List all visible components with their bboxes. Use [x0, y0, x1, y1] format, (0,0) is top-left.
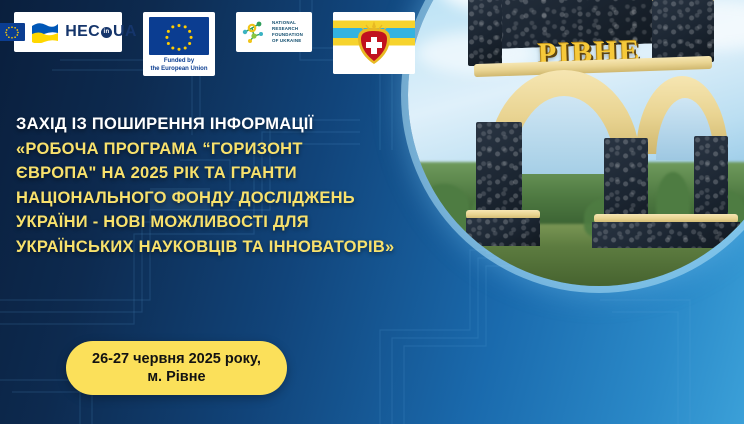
stone-arch-monument: РІВНЕ	[466, 0, 716, 240]
tower-side-body	[652, 0, 714, 62]
eu-funding-caption: Funded by the European Union	[151, 58, 208, 73]
headline-line-2: «РОБОЧА ПРОГРАМА “ГОРИЗОНТ	[16, 137, 446, 162]
headline-line-5: УКРАЇНИ - НОВІ МОЖЛИВОСТІ ДЛЯ	[16, 210, 446, 235]
event-date-badge: 26-27 червня 2025 року, м. Рівне	[66, 341, 287, 395]
ua-text: UA	[113, 23, 137, 41]
event-date-line: 26-27 червня 2025 року,	[92, 350, 261, 368]
headline-line-1: ЗАХІД ІЗ ПОШИРЕННЯ ІНФОРМАЦІЇ	[16, 112, 446, 137]
eu-caption-line1: Funded by	[151, 58, 208, 66]
rivne-oblast-flag	[333, 12, 415, 74]
nrfu-line3: OF UKRAINE	[272, 38, 307, 44]
rivne-monument-photo: РІВНЕ	[408, 0, 744, 286]
hec-text: HEC	[65, 23, 100, 41]
base-block	[592, 222, 740, 248]
molecule-network-icon	[241, 19, 267, 45]
headline-line-6: УКРАЇНСЬКИХ НАУКОВЦІВ ТА ІННОВАТОРІВ»	[16, 235, 446, 260]
base-block	[466, 218, 540, 246]
hec-ua-logo-text: HECinUA	[65, 23, 136, 41]
headline-line-3: ЄВРОПА" НА 2025 РІК ТА ГРАНТИ	[16, 161, 446, 186]
headline-line-4: НАЦІОНАЛЬНОГО ФОНДУ ДОСЛІДЖЕНЬ	[16, 186, 446, 211]
eu-caption-line2: the European Union	[151, 66, 208, 74]
nrfu-logo-text: NATIONAL RESEARCH FOUNDATION OF UKRAINE	[272, 20, 307, 44]
partner-logo-bar: HECinUA Funded by the Europ	[14, 12, 415, 76]
rivne-coat-of-arms-icon	[354, 20, 394, 66]
eu-funded-logo: Funded by the European Union	[143, 12, 215, 76]
poster-headline: ЗАХІД ІЗ ПОШИРЕННЯ ІНФОРМАЦІЇ «РОБОЧА ПР…	[16, 112, 446, 259]
ukraine-flag-icon	[32, 21, 58, 43]
hec-ua-logo: HECinUA	[14, 12, 122, 52]
event-announcement-poster: РІВНЕ	[0, 0, 744, 424]
national-research-foundation-logo: NATIONAL RESEARCH FOUNDATION OF UKRAINE	[236, 12, 312, 52]
event-location-line: м. Рівне	[92, 368, 261, 386]
cornice	[474, 56, 712, 77]
eu-flag-icon	[149, 17, 209, 55]
tower-left-pier	[468, 0, 502, 66]
hec-dot-icon: in	[101, 27, 112, 38]
eu-flag-icon	[0, 23, 25, 41]
nrfu-line1: NATIONAL RESEARCH	[272, 20, 307, 32]
